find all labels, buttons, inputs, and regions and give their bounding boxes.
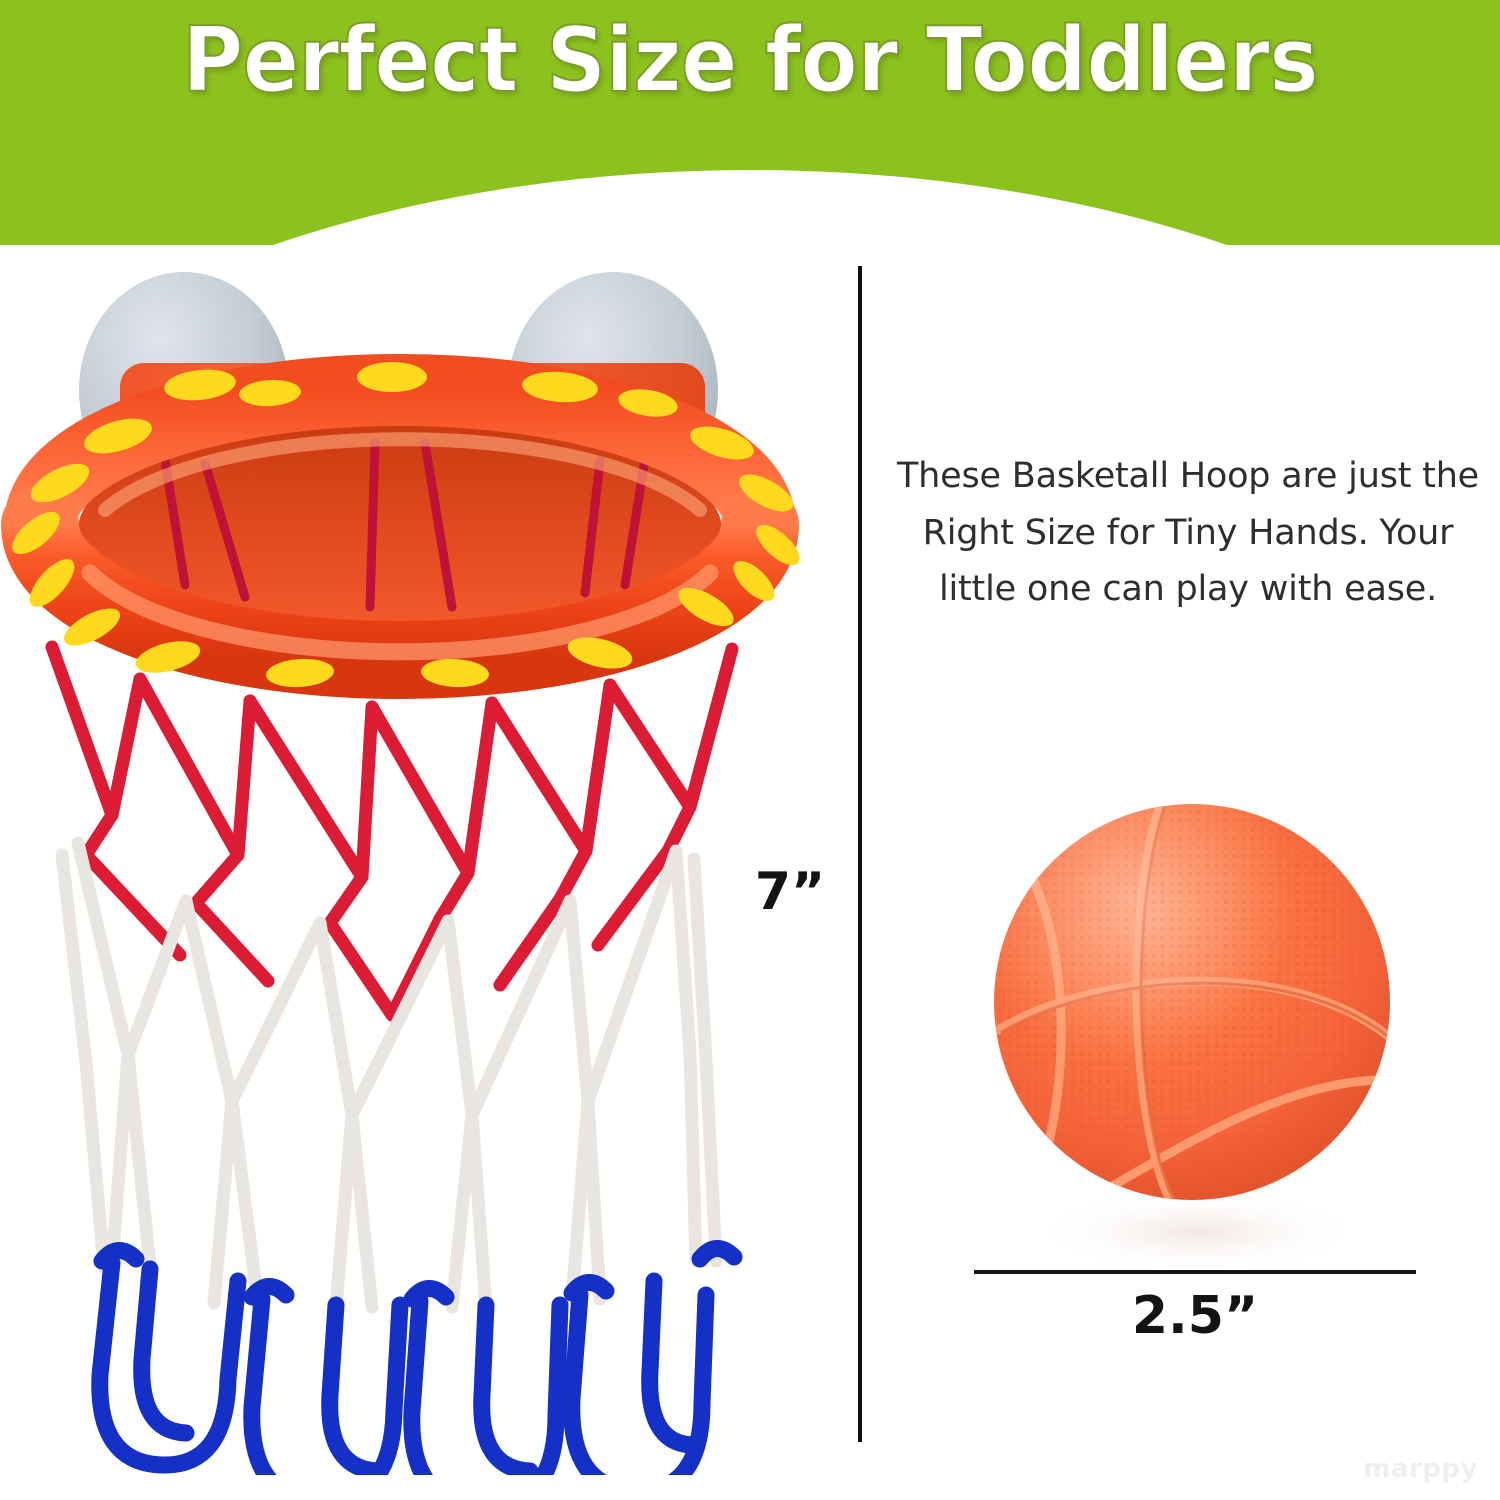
brand-watermark: marppy [1363,1454,1478,1484]
basketball-hoop-illustration [0,255,800,1475]
hoop-size-label: 7” [740,862,840,922]
ball-size-label: 2.5” [1040,1286,1350,1346]
ball-measure-line [974,1270,1416,1274]
product-infographic: Perfect Size for Toddlers [0,0,1500,1500]
page-title: Perfect Size for Toddlers [53,14,1448,109]
description-text: These Basketall Hoop are just the Right … [888,448,1488,618]
basketball-illustration [960,780,1430,1280]
ball-highlight [994,804,1390,1200]
net-bottom-blue [100,1248,734,1475]
ball-reflection [1030,1190,1366,1274]
vertical-divider [858,266,862,1442]
net-upper-red [52,647,732,1015]
header-banner: Perfect Size for Toddlers [0,0,1500,245]
